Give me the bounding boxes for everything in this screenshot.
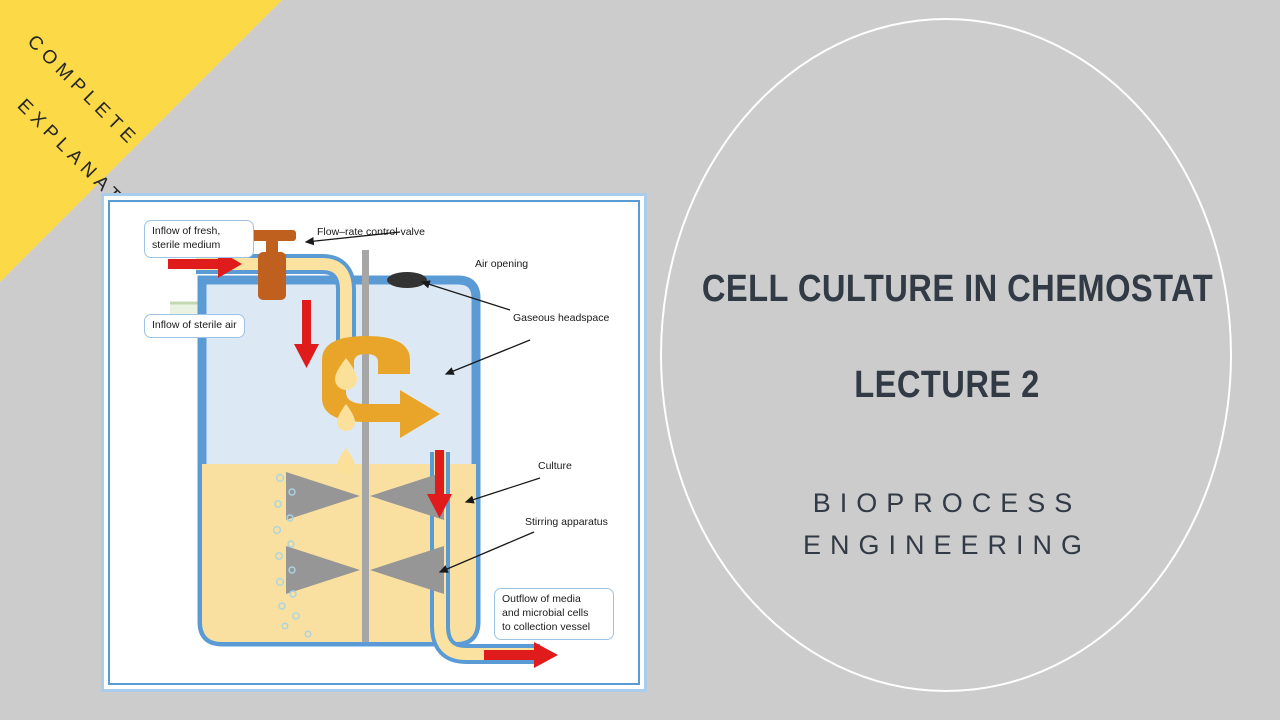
label-gaseous-headspace: Gaseous headspace <box>513 312 609 324</box>
stirrer-shaft <box>362 250 369 642</box>
subject-name: Bioprocess Engineering <box>662 483 1232 567</box>
label-flow-rate-valve: Flow–rate control valve <box>317 226 425 238</box>
label-stirring-apparatus: Stirring apparatus <box>525 516 608 528</box>
label-air-opening: Air opening <box>475 258 528 270</box>
lecture-number: Lecture 2 <box>702 364 1192 407</box>
label-outflow: Outflow of media and microbial cells to … <box>494 588 614 640</box>
subject-line-2: Engineering <box>662 525 1232 567</box>
title-block: Cell Culture in Chemostat Lecture 2 Biop… <box>662 270 1232 567</box>
label-culture: Culture <box>538 460 572 472</box>
slide-canvas: COMPLETE EXPLANATION Cell Culture in Che… <box>0 0 1280 720</box>
diagram-frame: Inflow of fresh, sterile medium Inflow o… <box>101 193 647 692</box>
diagram-canvas: Inflow of fresh, sterile medium Inflow o… <box>108 200 640 685</box>
air-opening-icon <box>387 272 427 288</box>
label-inflow-air: Inflow of sterile air <box>144 314 245 338</box>
label-inflow-medium: Inflow of fresh, sterile medium <box>144 220 254 258</box>
subject-line-1: Bioprocess <box>662 483 1232 525</box>
page-title: Cell Culture in Chemostat <box>702 270 1192 310</box>
